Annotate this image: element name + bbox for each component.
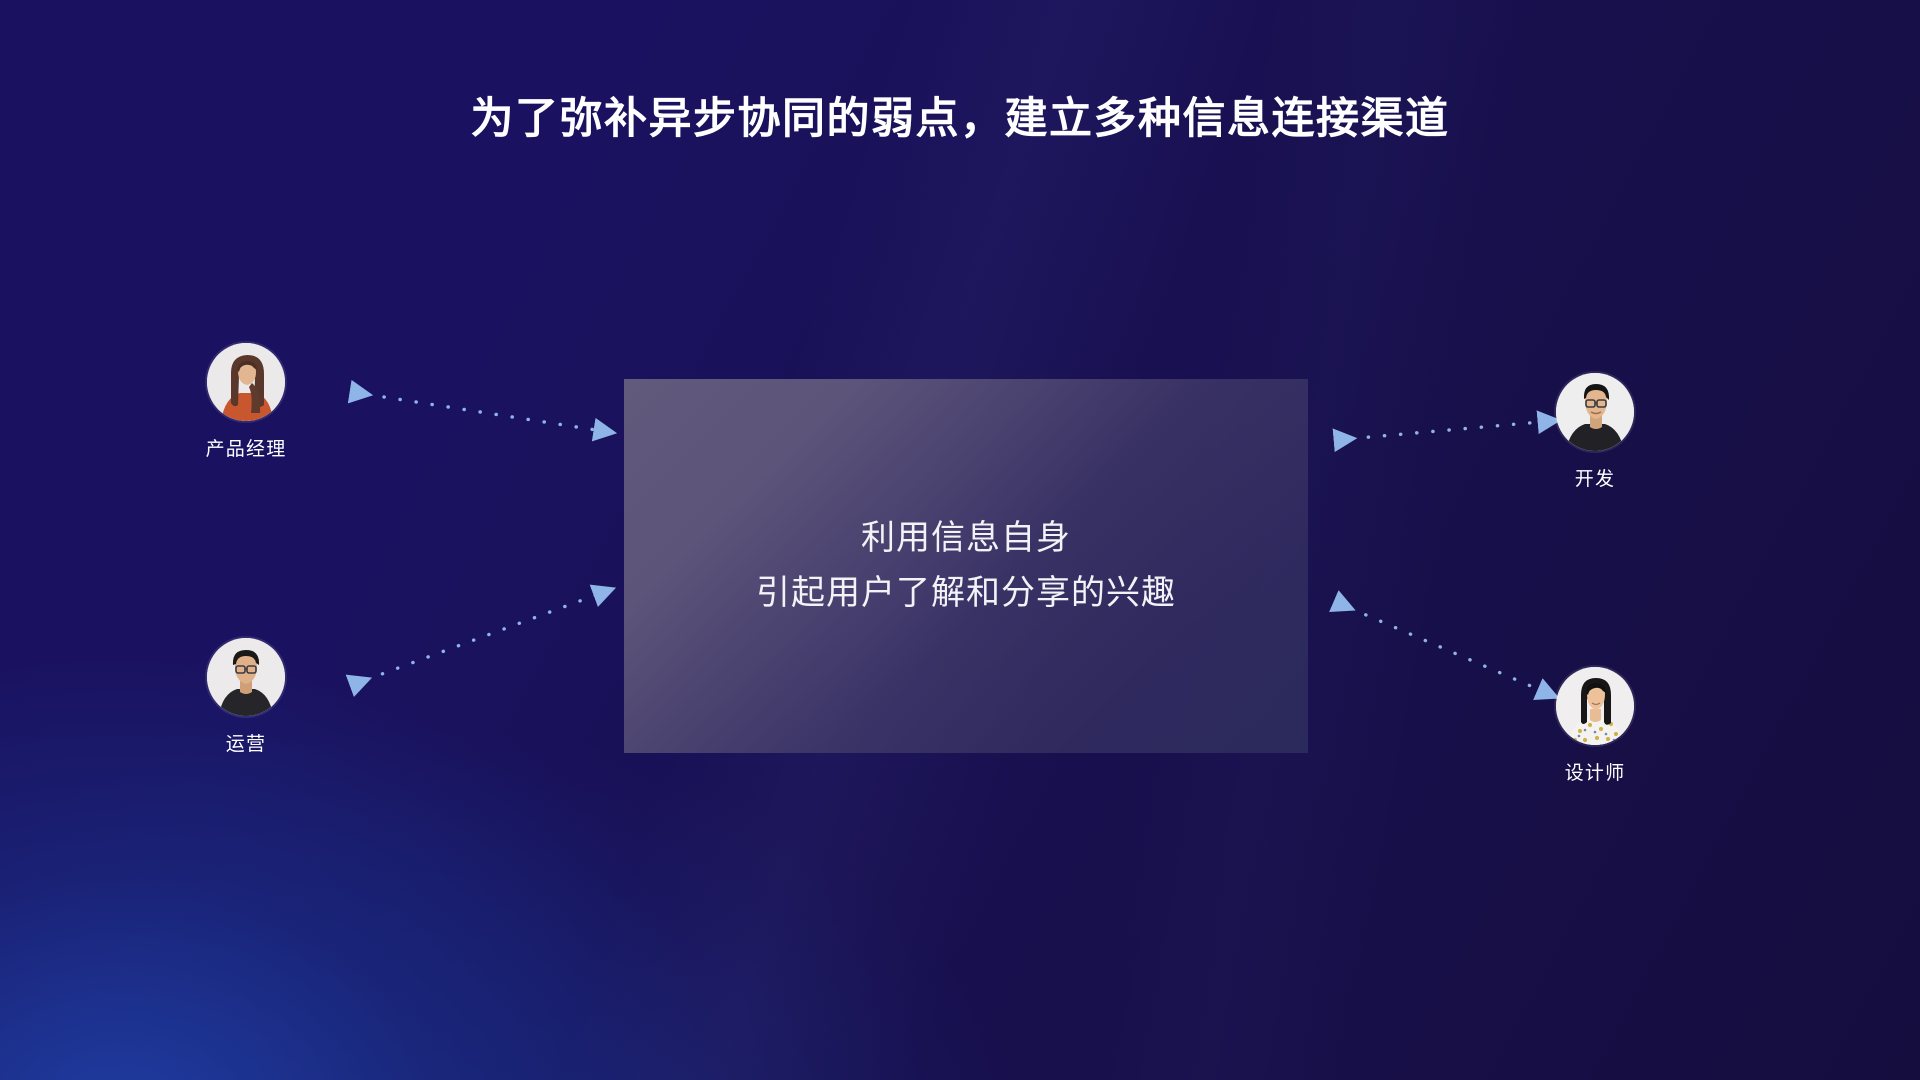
- center-message-panel: 利用信息自身 引起用户了解和分享的兴趣: [624, 379, 1308, 753]
- person-product-manager[interactable]: 产品经理: [166, 343, 326, 461]
- woman-black-bob-floral-top-icon: [1556, 667, 1634, 745]
- man-glasses-black-tshirt-icon: [1556, 373, 1634, 451]
- person-designer[interactable]: 设计师: [1515, 667, 1675, 785]
- center-panel-line-2: 引起用户了解和分享的兴趣: [756, 566, 1176, 621]
- center-panel-line-1: 利用信息自身: [861, 511, 1071, 566]
- connector-product-manager: [352, 392, 596, 430]
- avatar-development: [1556, 373, 1634, 451]
- person-development[interactable]: 开发: [1515, 373, 1675, 491]
- connector-development: [1336, 422, 1540, 440]
- woman-long-brown-hair-orange-top-icon: [207, 343, 285, 421]
- avatar-designer: [1556, 667, 1634, 745]
- person-operations[interactable]: 运营: [166, 638, 326, 756]
- avatar-product-manager: [207, 343, 285, 421]
- connector-operations: [352, 595, 596, 685]
- avatar-operations: [207, 638, 285, 716]
- person-label-development: 开发: [1515, 464, 1675, 491]
- person-label-product-manager: 产品经理: [166, 434, 326, 461]
- person-label-operations: 运营: [166, 729, 326, 756]
- page-title: 为了弥补异步协同的弱点，建立多种信息连接渠道: [0, 94, 1920, 146]
- man-glasses-black-shirt-icon: [207, 638, 285, 716]
- slide-canvas: 为了弥补异步协同的弱点，建立多种信息连接渠道 panel left-top --…: [0, 0, 1920, 1080]
- person-label-designer: 设计师: [1515, 758, 1675, 785]
- connector-designer: [1336, 602, 1540, 690]
